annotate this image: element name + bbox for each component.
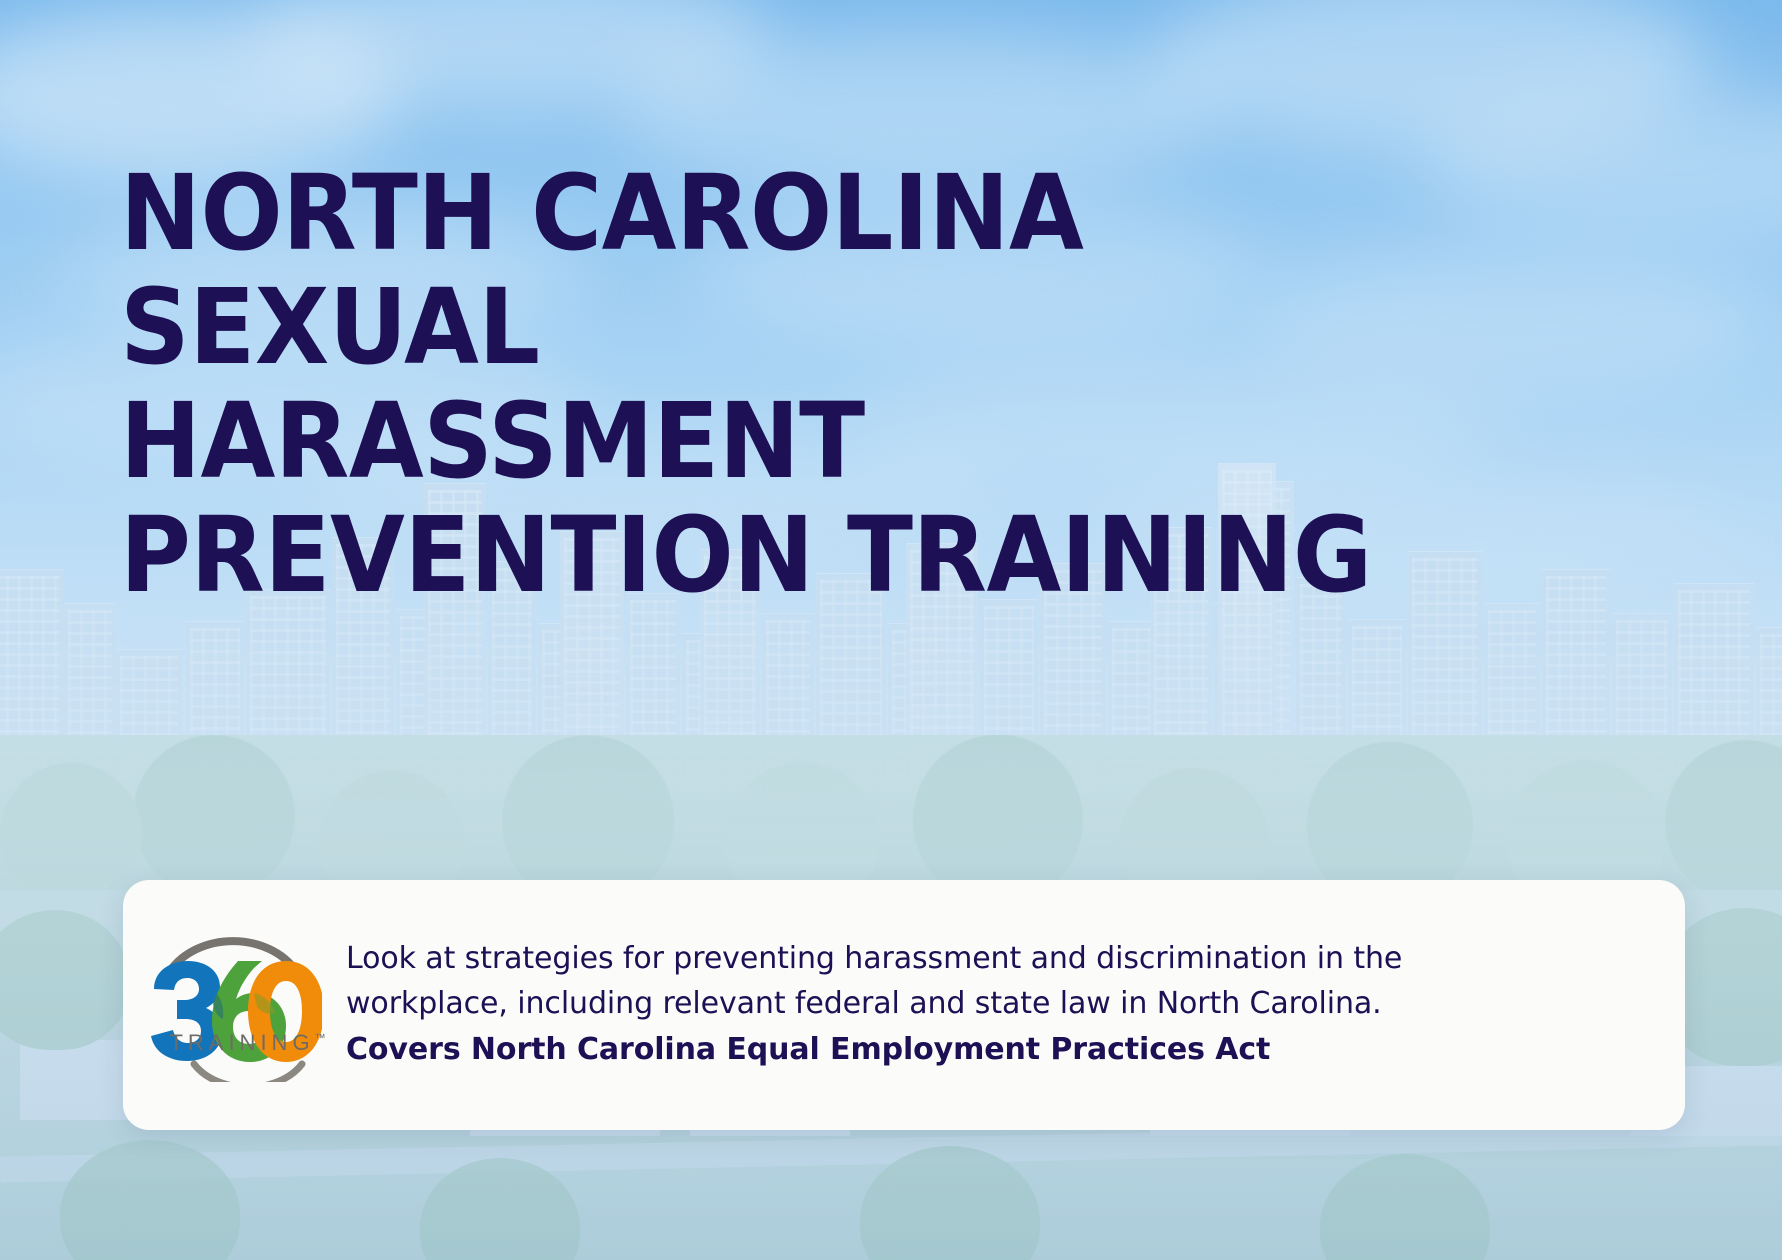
360training-logo-icon (144, 931, 322, 1079)
banner-stage: North Carolina Sexual Harassment Prevent… (0, 0, 1782, 1260)
coverage-highlight: Covers North Carolina Equal Employment P… (346, 1026, 1645, 1074)
brand-logo (123, 880, 328, 1130)
course-info-card: TRAINING™ Look at strategies for prevent… (123, 880, 1685, 1130)
description-line-1: Look at strategies for preventing harass… (346, 936, 1645, 981)
course-description: Look at strategies for preventing harass… (328, 936, 1685, 1074)
description-line-2: workplace, including relevant federal an… (346, 981, 1645, 1026)
page-title: North Carolina Sexual Harassment Prevent… (120, 156, 1469, 612)
